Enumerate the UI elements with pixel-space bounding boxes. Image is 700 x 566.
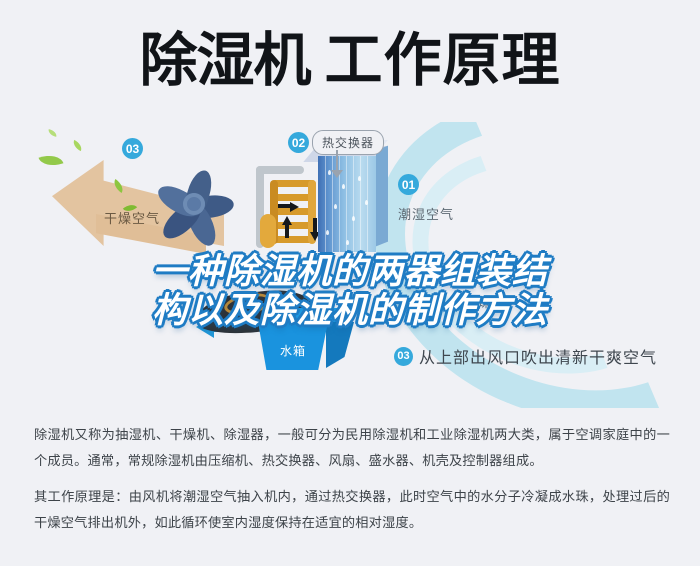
badge-step-03-bottom: 03 (394, 347, 413, 366)
flow-arrow-up (285, 224, 289, 238)
leaf-icon (39, 151, 64, 170)
water-tank-side (326, 322, 354, 368)
water-tank-label: 水箱 (280, 342, 306, 359)
flow-arrow-down (313, 218, 317, 232)
leaf-icon (71, 140, 84, 151)
heat-exchanger-illustration (318, 156, 384, 256)
humid-air-label: 潮湿空气 (398, 204, 454, 223)
flow-arrow-right-head (290, 202, 299, 212)
heat-exchanger-fins (318, 156, 376, 252)
working-principle-diagram: 干燥空气 (0, 122, 700, 408)
water-tank-illustration: 水箱 (258, 308, 354, 370)
flow-arrow-up-head (282, 216, 292, 225)
fan-illustration (150, 160, 250, 256)
callout-stem (336, 150, 338, 172)
page-title: 除湿机工作原理 (0, 28, 700, 94)
badge-step-02: 02 (288, 132, 309, 153)
paragraph-1: 除湿机又称为抽湿机、干燥机、除湿器，一般可分为民用除湿机和工业除湿机两大类，属于… (34, 422, 670, 474)
callout-pointer (331, 170, 343, 178)
body-copy: 除湿机又称为抽湿机、干燥机、除湿器，一般可分为民用除湿机和工业除湿机两大类，属于… (0, 408, 700, 566)
condensation-label: 成水珠 (452, 294, 491, 311)
header-banner: 除湿机工作原理 (0, 0, 700, 122)
fan-hub (183, 193, 205, 215)
heat-exchanger-side (376, 146, 388, 247)
heat-exchanger-callout: 热交换器 (312, 130, 384, 155)
badge-step-01: 01 (398, 174, 419, 195)
pipe (256, 166, 304, 174)
page-title-part2: 工作原理 (325, 28, 561, 93)
paragraph-2: 其工作原理是：由风机将潮湿空气抽入机内，通过热交换器，此时空气中的水分子冷凝成水… (34, 484, 670, 536)
step-03-caption-row: 03 从上部出风口吹出清新干爽空气 (394, 344, 657, 368)
step-03-caption: 从上部出风口吹出清新干爽空气 (419, 344, 657, 368)
page-root: 除湿机工作原理 干燥空气 (0, 0, 700, 566)
badge-step-03: 03 (122, 138, 143, 159)
compressor-tank (260, 214, 276, 248)
leaf-icon (47, 129, 57, 137)
page-title-part1: 除湿机 (139, 28, 310, 93)
